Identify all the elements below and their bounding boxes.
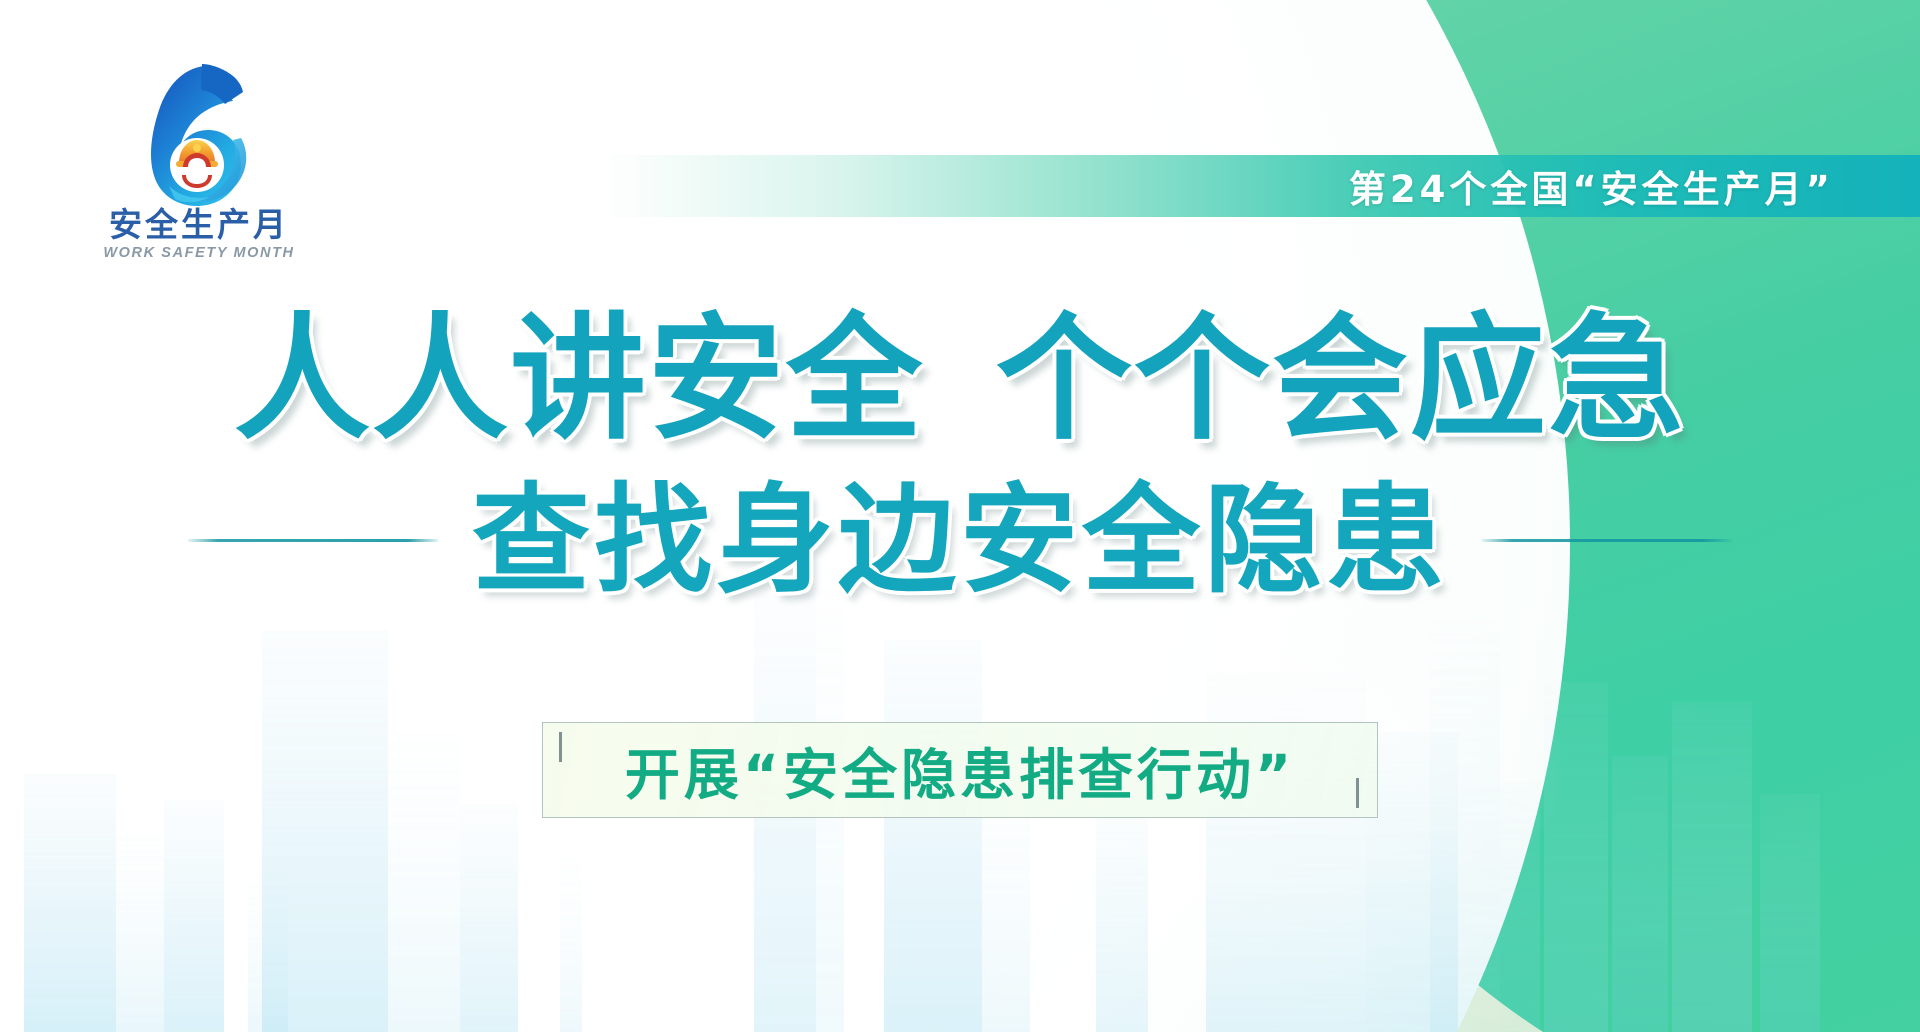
skyline-building: [1500, 782, 1540, 1032]
skyline-building: [1760, 794, 1820, 1032]
skyline-building: [116, 832, 164, 1032]
corner-tick-bottom-right-icon: [1356, 778, 1359, 808]
skyline-building: [460, 804, 518, 1032]
logo-chinese-text: 安全生产月: [74, 208, 324, 243]
logo-english-text: WORK SAFETY MONTH: [74, 245, 324, 261]
headline-line-1-part-1: 人人讲安全: [234, 301, 924, 459]
skyline-building: [884, 640, 982, 1032]
skyline-building: [388, 732, 460, 1032]
skyline-building: [1430, 614, 1500, 1032]
logo-block: 安全生产月 WORK SAFETY MONTH: [74, 52, 324, 261]
skyline-building: [1672, 702, 1752, 1032]
edition-ribbon: 第24个全国“安全生产月”: [600, 155, 1920, 217]
divider-rule-right: [1482, 539, 1732, 542]
subtitle-text: 开展“安全隐患排查行动”: [625, 730, 1295, 810]
headline-line-1: 人人讲安全个个会应急: [0, 300, 1920, 460]
corner-tick-top-left-icon: [559, 732, 562, 762]
skyline-building: [560, 856, 582, 1032]
headline-line-1-part-2: 个个会应急: [996, 301, 1686, 459]
subtitle-box: 开展“安全隐患排查行动”: [542, 722, 1378, 818]
headline-line-2-row: 查找身边安全隐患: [0, 470, 1920, 612]
skyline-building: [262, 630, 388, 1032]
skyline-building: [1612, 756, 1668, 1032]
skyline-building: [164, 800, 224, 1032]
headline-line-2: 查找身边安全隐患: [472, 470, 1448, 612]
headline-block: 人人讲安全个个会应急: [0, 300, 1920, 460]
safety-poster: 安全生产月 WORK SAFETY MONTH 第24个全国“安全生产月” 人人…: [0, 0, 1920, 1032]
skyline-building: [24, 774, 116, 1032]
skyline-building: [1096, 792, 1148, 1032]
divider-rule-left: [188, 539, 438, 542]
skyline-building: [1544, 682, 1608, 1032]
edition-ribbon-text: 第24个全国“安全生产月”: [1349, 159, 1834, 213]
numeral-six-worker-logo-icon: [109, 52, 289, 212]
